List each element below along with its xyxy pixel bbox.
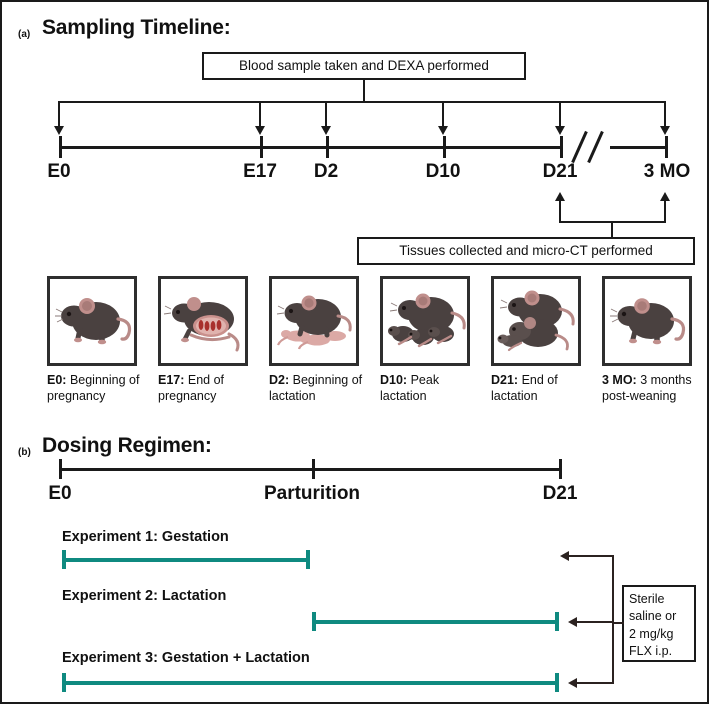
- treatment-arrowhead-exp3: [568, 678, 577, 688]
- tick-label-b-e0: E0: [48, 483, 71, 505]
- tick-e17: [260, 136, 263, 158]
- dropper-d10: [442, 101, 444, 127]
- mouse-nursing-pups-icon: [383, 279, 467, 363]
- tick-label-b-d21: D21: [543, 483, 578, 505]
- stage-caption-d21: D21: End of lactation: [491, 373, 595, 405]
- axis-break-slash-2: [587, 131, 604, 163]
- treatment-callout-box: Sterile saline or 2 mg/kg FLX i.p.: [622, 585, 696, 662]
- experiment-2-label: Experiment 2: Lactation: [62, 588, 226, 604]
- panel-b-title: Dosing Regimen:: [42, 434, 212, 458]
- tissue-callout-box: Tissues collected and micro-CT performed: [357, 237, 695, 265]
- experiment-1-label: Experiment 1: Gestation: [62, 529, 229, 545]
- tick-label-d10: D10: [426, 161, 461, 183]
- timeline-axis-b: [59, 468, 559, 471]
- experiment-2-bar: [312, 620, 559, 624]
- stage-caption-e0: E0: Beginning of pregnancy: [47, 373, 151, 405]
- arrowhead-d2: [321, 126, 331, 135]
- experiment-1-bar-start-cap: [62, 550, 66, 569]
- tick-3mo: [665, 136, 668, 158]
- tick-b-parturition: [312, 459, 315, 479]
- treatment-line-2: saline or: [629, 608, 689, 625]
- stage-code-e0: E0:: [47, 373, 66, 387]
- blood-sample-callout-label: Blood sample taken and DEXA performed: [239, 58, 489, 74]
- dropper-d2: [325, 101, 327, 127]
- experiment-2-bar-start-cap: [312, 612, 316, 631]
- stage-caption-d2: D2: Beginning of lactation: [269, 373, 373, 405]
- treatment-line-4: FLX i.p.: [629, 643, 689, 660]
- treatment-arrow-line-exp2: [576, 621, 614, 623]
- stage-code-d10: D10:: [380, 373, 407, 387]
- arrowhead-d10: [438, 126, 448, 135]
- tick-b-d21: [559, 459, 562, 479]
- timeline-axis-a-main: [59, 146, 562, 149]
- tissue-callout-label: Tissues collected and micro-CT performed: [399, 243, 653, 259]
- treatment-connector-spine: [612, 555, 614, 683]
- stage-caption-e17: E17: End of pregnancy: [158, 373, 262, 405]
- stage-caption-3mo: 3 MO: 3 months post-weaning: [602, 373, 706, 405]
- tick-label-b-parturition: Parturition: [264, 483, 360, 505]
- experiment-3-bar-start-cap: [62, 673, 66, 692]
- stage-image-d21: [491, 276, 581, 366]
- pregnant-mouse-icon: [161, 279, 245, 363]
- treatment-line-1: Sterile: [629, 591, 689, 608]
- tick-e0: [59, 136, 62, 158]
- mouse-icon: [50, 279, 134, 363]
- stage-image-e17: [158, 276, 248, 366]
- tick-d2: [326, 136, 329, 158]
- dropper-d21: [559, 101, 561, 127]
- tick-d10: [443, 136, 446, 158]
- mouse-with-pups-icon: [272, 279, 356, 363]
- figure-root: (a) Sampling Timeline: Blood sample take…: [0, 0, 709, 704]
- mouse-icon: [605, 279, 689, 363]
- tick-label-d21: D21: [543, 161, 578, 183]
- arrowhead-e0: [54, 126, 64, 135]
- treatment-arrowhead-exp1: [560, 551, 569, 561]
- tick-d21: [560, 136, 563, 158]
- treatment-line-3: 2 mg/kg: [629, 626, 689, 643]
- experiment-3-bar: [62, 681, 559, 685]
- blood-sample-callout-box: Blood sample taken and DEXA performed: [202, 52, 526, 80]
- arrowhead-d21: [555, 126, 565, 135]
- tissue-riser-d21: [559, 200, 561, 222]
- stage-image-3mo: [602, 276, 692, 366]
- experiment-1-bar-end-cap: [306, 550, 310, 569]
- experiment-3-bar-end-cap: [555, 673, 559, 692]
- arrowhead-e17: [255, 126, 265, 135]
- experiment-2-bar-end-cap: [555, 612, 559, 631]
- dropper-3mo: [664, 101, 666, 127]
- tick-label-3mo: 3 MO: [644, 161, 690, 183]
- stage-code-e17: E17:: [158, 373, 184, 387]
- stage-code-d21: D21:: [491, 373, 518, 387]
- stage-image-e0: [47, 276, 137, 366]
- timeline-axis-a-post-break: [610, 146, 666, 149]
- experiment-1-bar: [62, 558, 310, 562]
- treatment-arrow-line-exp3: [576, 682, 614, 684]
- stage-code-3mo: 3 MO:: [602, 373, 637, 387]
- tick-label-e0: E0: [47, 161, 70, 183]
- panel-a-title: Sampling Timeline:: [42, 16, 231, 40]
- tick-b-e0: [59, 459, 62, 479]
- blood-callout-stem: [363, 80, 365, 102]
- dropper-e17: [259, 101, 261, 127]
- mouse-with-juveniles-icon: [494, 279, 578, 363]
- tick-label-e17: E17: [243, 161, 277, 183]
- treatment-arrowhead-exp2: [568, 617, 577, 627]
- dropper-e0: [58, 101, 60, 127]
- tick-label-d2: D2: [314, 161, 338, 183]
- arrowhead-3mo: [660, 126, 670, 135]
- treatment-arrow-line-exp1: [568, 555, 614, 557]
- panel-a-letter: (a): [18, 29, 30, 40]
- stage-image-d2: [269, 276, 359, 366]
- stage-image-d10: [380, 276, 470, 366]
- tissue-riser-3mo: [664, 200, 666, 222]
- stage-code-d2: D2:: [269, 373, 289, 387]
- panel-b-letter: (b): [18, 447, 31, 458]
- blood-callout-bracket: [59, 101, 666, 103]
- experiment-3-label: Experiment 3: Gestation + Lactation: [62, 650, 310, 666]
- stage-caption-d10: D10: Peak lactation: [380, 373, 484, 405]
- axis-break-slash-1: [571, 131, 588, 163]
